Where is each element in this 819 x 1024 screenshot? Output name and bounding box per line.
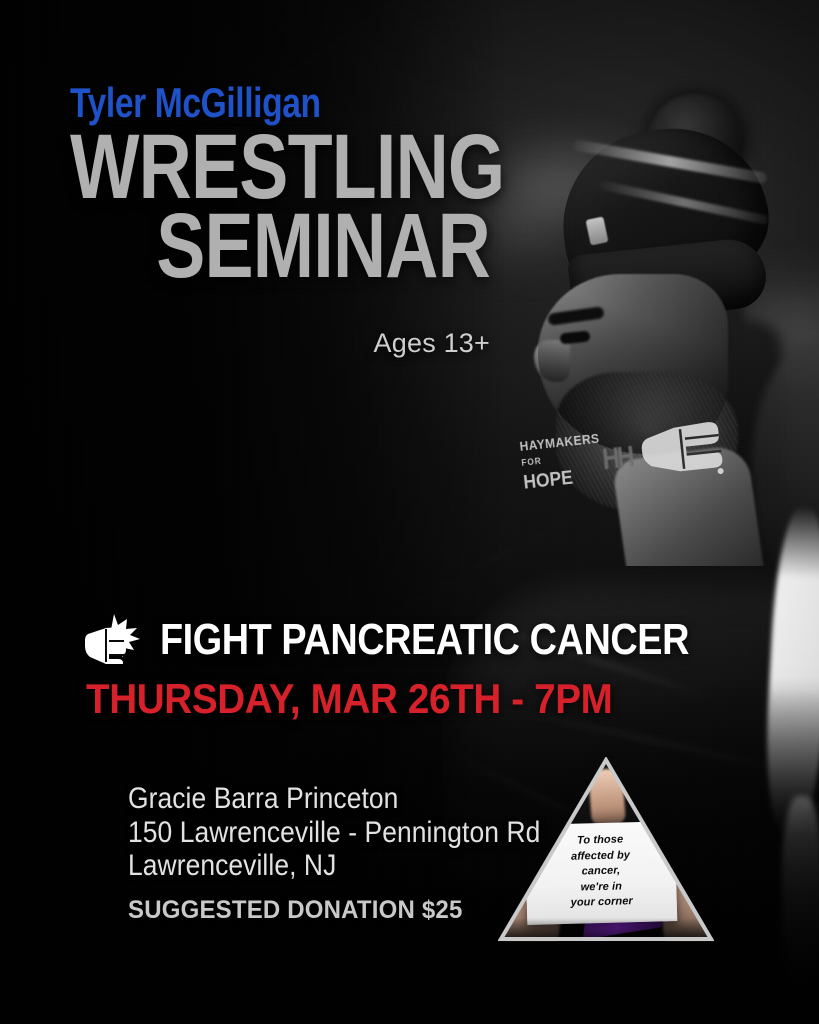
- fist-punch-icon: [84, 612, 146, 668]
- suggested-donation: SUGGESTED DONATION $25: [128, 896, 463, 925]
- title-line-2: SEMINAR: [154, 207, 490, 286]
- event-poster: HH HAYMAKERS FOR HOPE: [0, 0, 819, 1024]
- triangle-bottom-shadow: [498, 918, 714, 942]
- sign-line-5: your corner: [533, 894, 671, 913]
- holder-hand-top: [588, 768, 626, 826]
- held-sign-text: To those affected by cancer, we're in yo…: [531, 831, 671, 913]
- venue-name: Gracie Barra Princeton: [128, 782, 540, 816]
- event-date-time: THURSDAY, MAR 26TH - 7PM: [86, 678, 612, 720]
- triangle-photo-clip: To those affected by cancer, we're in yo…: [498, 757, 714, 942]
- venue-street: 150 Lawrenceville - Pennington Rd: [128, 816, 540, 850]
- cause-row: FIGHT PANCREATIC CANCER: [84, 612, 775, 668]
- triangle-photo-badge: To those affected by cancer, we're in yo…: [498, 757, 714, 942]
- triangle-inner-photo: To those affected by cancer, we're in yo…: [498, 757, 714, 942]
- poster-title: WRESTLING SEMINAR: [70, 128, 490, 286]
- age-restriction: Ages 13+: [70, 328, 490, 359]
- held-sign: To those affected by cancer, we're in yo…: [525, 821, 678, 925]
- cause-text: FIGHT PANCREATIC CANCER: [160, 618, 689, 662]
- poster-content: Tyler McGilligan WRESTLING SEMINAR Ages …: [0, 0, 819, 1024]
- venue-city-state: Lawrenceville, NJ: [128, 849, 540, 883]
